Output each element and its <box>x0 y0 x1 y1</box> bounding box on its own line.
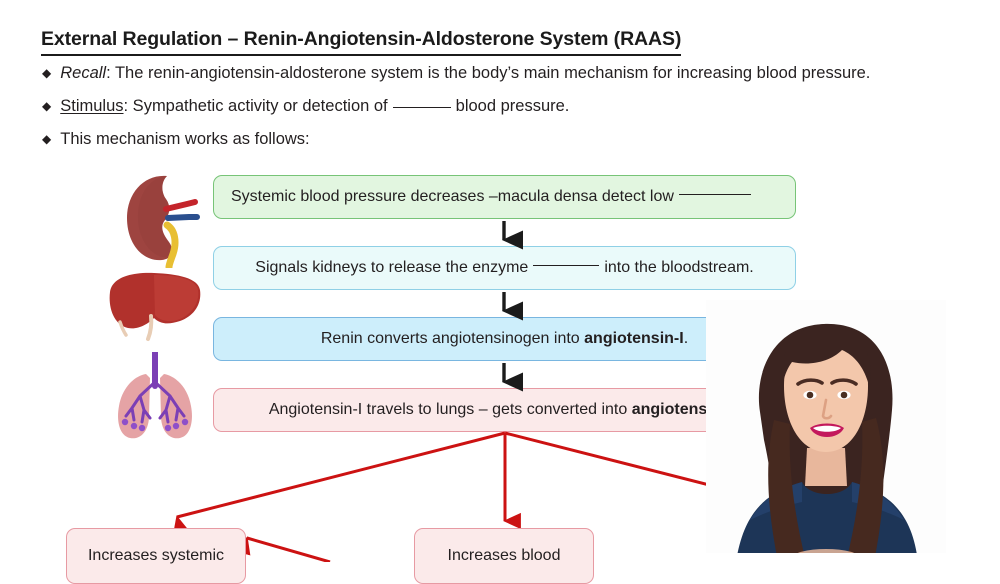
flow-box-2: Signals kidneys to release the enzymeint… <box>213 246 796 290</box>
liver-icon <box>102 266 206 344</box>
branch-arrow-left-secondary <box>247 538 330 562</box>
presenter-overlay-footer <box>706 553 946 562</box>
fill-in-blank <box>679 194 751 195</box>
outcome-box-systemic-label: Increases systemic <box>88 547 224 565</box>
bullet-marker-icon: ◆ <box>42 99 51 113</box>
bullet-marker-icon: ◆ <box>42 132 51 146</box>
outcome-box-systemic: Increases systemic <box>66 528 246 584</box>
flow-box-3-emphasis: angiotensin-I <box>584 330 684 347</box>
flow-box-2-text-before: Signals kidneys to release the enzyme <box>255 259 528 277</box>
bullet-stimulus: ◆ Stimulus: Sympathetic activity or dete… <box>42 97 569 116</box>
bullet-recall-text: : The renin-angiotensin-aldosterone syst… <box>106 64 870 82</box>
bullet-marker-icon: ◆ <box>42 66 51 80</box>
bullet-stimulus-lead: Stimulus <box>60 97 123 115</box>
presenter-video-overlay[interactable] <box>706 300 946 562</box>
flow-box-3-text: Renin converts angiotensinogen into <box>321 330 584 347</box>
outcome-box-blood-label: Increases blood <box>448 547 561 565</box>
flow-box-3-tail: . <box>684 330 688 347</box>
fill-in-blank <box>533 265 599 266</box>
bullet-recall: ◆ Recall: The renin-angiotensin-aldoster… <box>42 64 870 83</box>
flow-box-4-text: Angiotensin-I travels to lungs – gets co… <box>269 401 632 418</box>
bullet-stimulus-text-after: blood pressure. <box>456 97 570 115</box>
lungs-icon <box>106 352 204 444</box>
outcome-box-blood: Increases blood <box>414 528 594 584</box>
flow-box-1-text: Systemic blood pressure decreases –macul… <box>231 188 674 206</box>
kidney-icon <box>107 168 203 268</box>
bullet-recall-lead: Recall <box>60 64 106 82</box>
bullet-mechanism-text: This mechanism works as follows: <box>60 130 309 149</box>
branch-arrow-left <box>177 433 505 517</box>
bullet-mechanism: ◆ This mechanism works as follows: <box>42 130 310 149</box>
flow-box-1: Systemic blood pressure decreases –macul… <box>213 175 796 219</box>
flow-box-2-text-after: into the bloodstream. <box>604 259 753 277</box>
bullet-stimulus-text-before: : Sympathetic activity or detection of <box>124 97 388 115</box>
page-title: External Regulation – Renin-Angiotensin-… <box>41 28 681 56</box>
fill-in-blank <box>393 107 451 108</box>
